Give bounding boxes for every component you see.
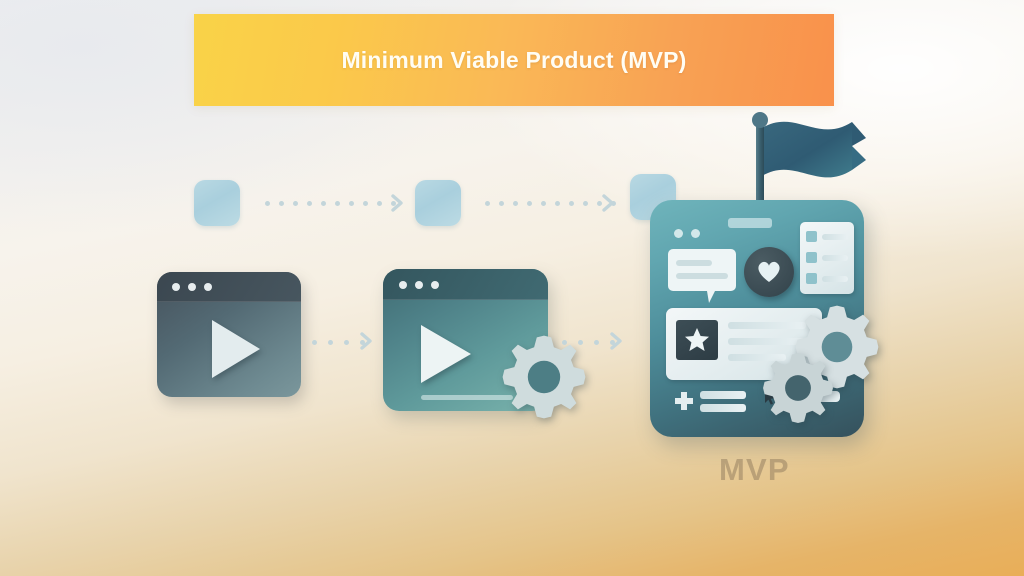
window-dot-1: [399, 281, 407, 289]
plus-icon: [674, 390, 694, 412]
star-icon: [684, 327, 710, 353]
window-dot-1: [172, 283, 180, 291]
flag-base: [728, 218, 772, 228]
chevron-right-icon-4: [607, 331, 627, 351]
heart-circle-icon: [744, 247, 794, 297]
plus-list-icon: [674, 390, 694, 417]
article-thumbnail: [676, 320, 718, 360]
heart-icon: [756, 260, 782, 284]
window-dot-3: [431, 281, 439, 289]
play-button-icon[interactable]: [212, 320, 260, 378]
checklist-line-1: [822, 234, 848, 240]
window-dot-2: [188, 283, 196, 291]
window-dot-2: [691, 229, 700, 238]
window-titlebar: [383, 269, 548, 300]
play-button-icon[interactable]: [421, 325, 471, 383]
window-dot-1: [674, 229, 683, 238]
chevron-right-icon-1: [389, 193, 409, 213]
checklist-panel: [800, 222, 854, 294]
dotted-arrow-top-1: [265, 201, 396, 206]
card-surface: [157, 272, 301, 397]
checklist-box-1: [806, 231, 817, 242]
mvp-caption: MVP: [719, 452, 790, 488]
gear-icon: [499, 332, 589, 422]
checklist-line-3: [822, 276, 848, 282]
step-square-2: [415, 180, 461, 226]
plus-bar-2: [700, 404, 746, 412]
gear-icon-small: [760, 350, 836, 426]
dotted-arrow-top-2: [485, 201, 616, 206]
chevron-right-icon-3: [357, 331, 377, 351]
checklist-box-3: [806, 273, 817, 284]
title-banner: Minimum Viable Product (MVP): [194, 14, 834, 106]
checklist-box-2: [806, 252, 817, 263]
step-square-1: [194, 180, 240, 226]
plus-bar-1: [700, 391, 746, 399]
checklist-line-2: [822, 255, 848, 261]
chat-bubble-icon: [665, 248, 741, 306]
chevron-right-icon-2: [600, 193, 620, 213]
slide-canvas: Minimum Viable Product (MVP): [0, 0, 1024, 576]
page-title: Minimum Viable Product (MVP): [341, 47, 686, 74]
window-dot-3: [204, 283, 212, 291]
window-dot-2: [415, 281, 423, 289]
